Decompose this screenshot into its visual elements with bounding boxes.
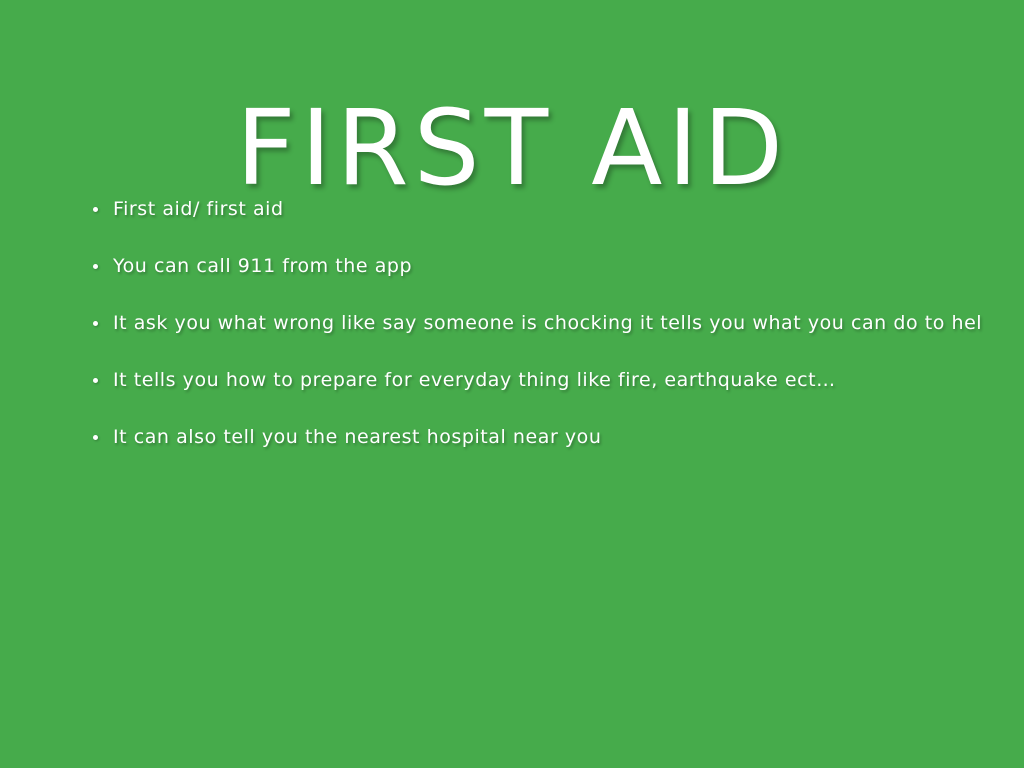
list-item: It ask you what wrong like say someone i… — [88, 310, 1024, 367]
list-item-label: It can also tell you the nearest hospita… — [113, 424, 1024, 450]
list-item: It can also tell you the nearest hospita… — [88, 424, 1024, 481]
list-item-label: It tells you how to prepare for everyday… — [113, 367, 1024, 393]
list-item: You can call 911 from the app — [88, 253, 1024, 310]
bullet-dot-icon — [93, 321, 98, 326]
bullet-list: First aid/ first aid You can call 911 fr… — [88, 196, 1024, 481]
slide-canvas: FIRST AID First aid/ first aid You can c… — [0, 0, 1024, 768]
list-item-label: You can call 911 from the app — [113, 253, 1024, 279]
bullet-dot-icon — [93, 378, 98, 383]
list-item: First aid/ first aid — [88, 196, 1024, 253]
page-title: FIRST AID — [0, 92, 1024, 204]
bullet-dot-icon — [93, 435, 98, 440]
bullet-dot-icon — [93, 207, 98, 212]
list-item-label: It ask you what wrong like say someone i… — [113, 310, 1024, 336]
list-item-label: First aid/ first aid — [113, 196, 1024, 222]
bullet-dot-icon — [93, 264, 98, 269]
list-item: It tells you how to prepare for everyday… — [88, 367, 1024, 424]
